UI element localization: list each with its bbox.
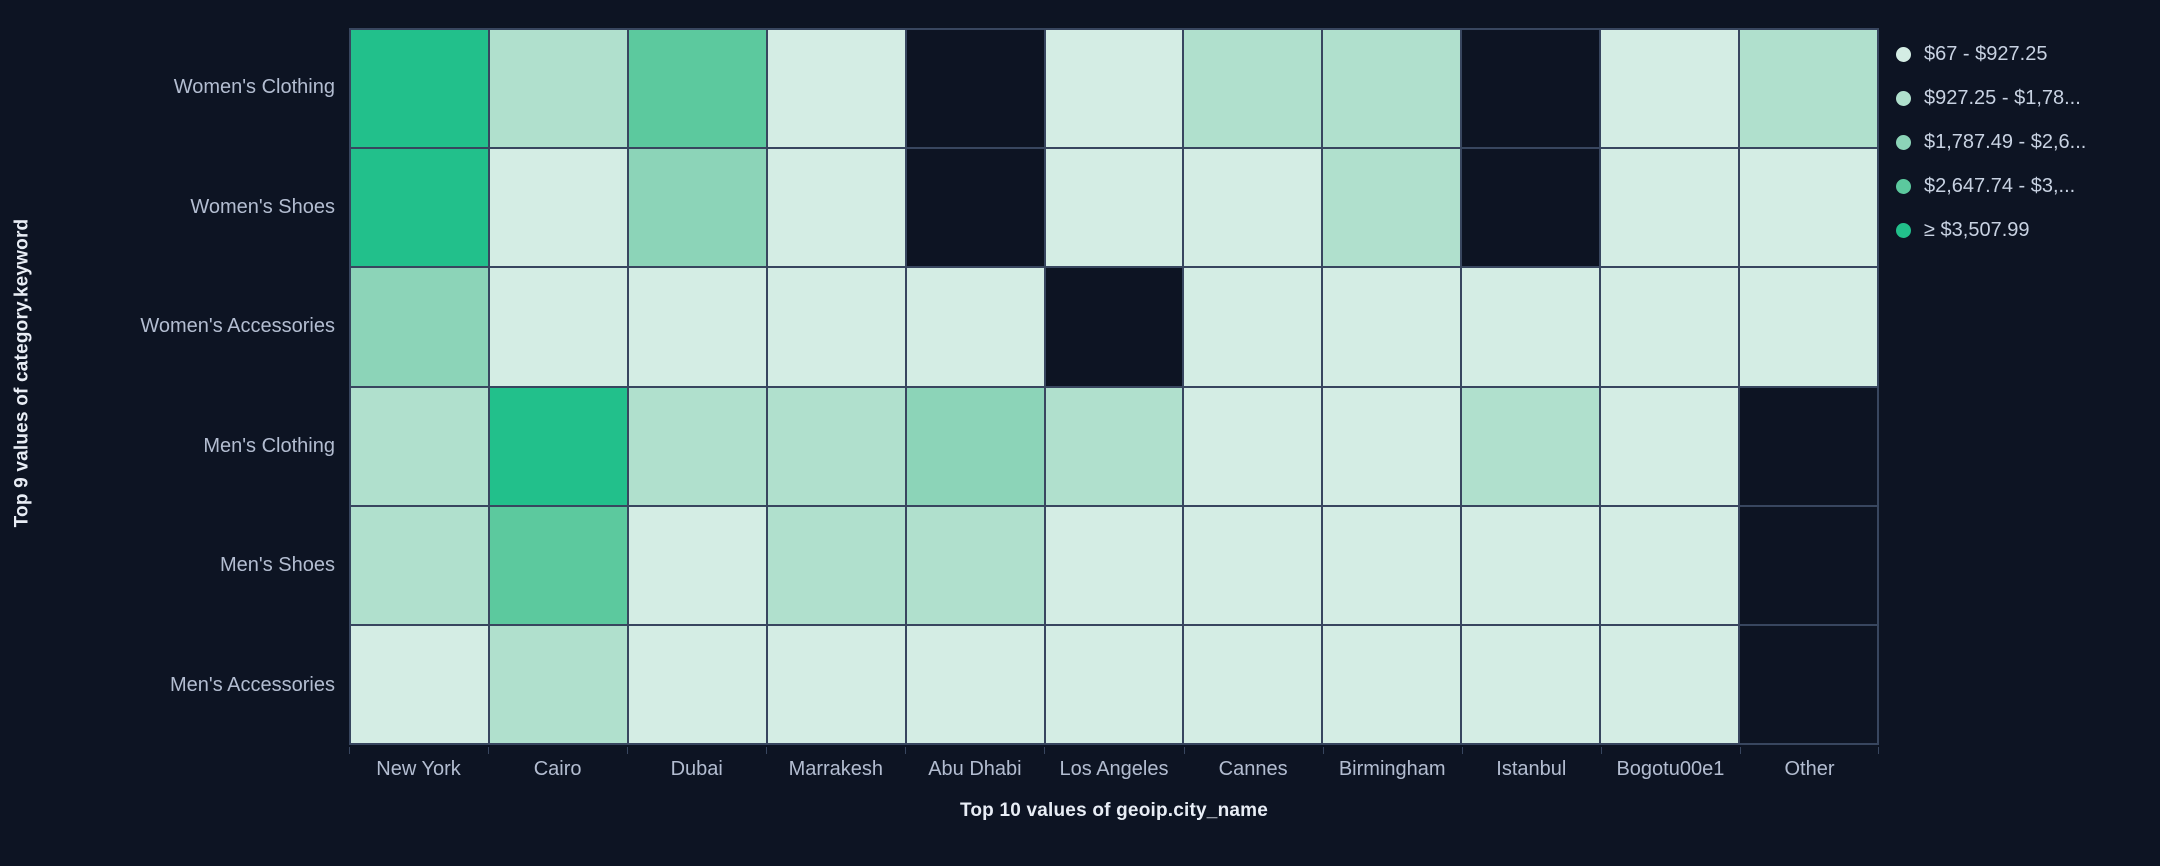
heatmap-cell[interactable]	[1740, 626, 1877, 743]
heatmap-cell[interactable]	[1601, 149, 1740, 266]
y-axis-tick: Women's Accessories	[44, 267, 349, 387]
legend-item[interactable]: ≥ $3,507.99	[1896, 208, 2156, 252]
x-axis-tick: Istanbul	[1462, 747, 1601, 791]
heatmap-cell[interactable]	[907, 626, 1046, 743]
heatmap-cell[interactable]	[1046, 626, 1185, 743]
heatmap-cell[interactable]	[1184, 388, 1323, 505]
heatmap-cell[interactable]	[1462, 388, 1601, 505]
x-axis-tick: Cairo	[488, 747, 627, 791]
heatmap-cell[interactable]	[1323, 30, 1462, 147]
x-axis-tick: New York	[349, 747, 488, 791]
heatmap-cell[interactable]	[1323, 388, 1462, 505]
heatmap-cell[interactable]	[1323, 268, 1462, 385]
x-axis-tick: Cannes	[1184, 747, 1323, 791]
heatmap-cell[interactable]	[629, 268, 768, 385]
heatmap-row	[351, 507, 1877, 626]
heatmap-visualization: Top 9 values of category.keyword Women's…	[0, 0, 2160, 866]
heatmap-cell[interactable]	[1046, 388, 1185, 505]
heatmap-cell[interactable]	[1601, 507, 1740, 624]
y-axis-tick: Women's Clothing	[44, 28, 349, 148]
legend-item[interactable]: $67 - $927.25	[1896, 32, 2156, 76]
heatmap-cell[interactable]	[490, 268, 629, 385]
heatmap-cell[interactable]	[907, 268, 1046, 385]
heatmap-cell[interactable]	[1601, 268, 1740, 385]
legend-swatch-icon	[1896, 47, 1911, 62]
heatmap-cell[interactable]	[351, 149, 490, 266]
heatmap-cell[interactable]	[768, 507, 907, 624]
heatmap-row	[351, 149, 1877, 268]
heatmap-cell[interactable]	[768, 626, 907, 743]
x-axis-tick: Birmingham	[1323, 747, 1462, 791]
heatmap-cell[interactable]	[351, 388, 490, 505]
heatmap-cell[interactable]	[768, 268, 907, 385]
legend-swatch-icon	[1896, 179, 1911, 194]
heatmap-cell[interactable]	[490, 388, 629, 505]
heatmap-row	[351, 268, 1877, 387]
heatmap-cell[interactable]	[1046, 268, 1185, 385]
legend-swatch-icon	[1896, 91, 1911, 106]
heatmap-cell[interactable]	[629, 507, 768, 624]
heatmap-cell[interactable]	[768, 388, 907, 505]
heatmap-cell[interactable]	[629, 149, 768, 266]
heatmap-cell[interactable]	[351, 626, 490, 743]
heatmap-cell[interactable]	[1046, 149, 1185, 266]
heatmap-cell[interactable]	[1740, 268, 1877, 385]
heatmap-cell[interactable]	[490, 149, 629, 266]
x-axis-tick: Dubai	[627, 747, 766, 791]
heatmap-cell[interactable]	[351, 268, 490, 385]
heatmap-cell[interactable]	[1601, 626, 1740, 743]
heatmap-cell[interactable]	[1462, 626, 1601, 743]
heatmap-cell[interactable]	[907, 388, 1046, 505]
heatmap-cell[interactable]	[1740, 149, 1877, 266]
heatmap-cell[interactable]	[1184, 507, 1323, 624]
x-axis-tick: Los Angeles	[1044, 747, 1183, 791]
heatmap-cell[interactable]	[629, 30, 768, 147]
legend-item[interactable]: $2,647.74 - $3,...	[1896, 164, 2156, 208]
heatmap-cell[interactable]	[1462, 149, 1601, 266]
heatmap-cell[interactable]	[907, 30, 1046, 147]
heatmap-cell[interactable]	[1601, 388, 1740, 505]
heatmap-cell[interactable]	[1184, 149, 1323, 266]
heatmap-cell[interactable]	[1184, 268, 1323, 385]
heatmap-cell[interactable]	[1184, 626, 1323, 743]
legend-item-label: ≥ $3,507.99	[1924, 219, 2030, 242]
legend-item-label: $67 - $927.25	[1924, 43, 2047, 66]
heatmap-cell[interactable]	[490, 30, 629, 147]
x-axis-title: Top 10 values of geoip.city_name	[349, 800, 1879, 822]
x-axis-tick: Marrakesh	[766, 747, 905, 791]
heatmap-cell[interactable]	[1601, 30, 1740, 147]
heatmap-cell[interactable]	[768, 30, 907, 147]
y-axis-title: Top 9 values of category.keyword	[0, 0, 44, 745]
y-axis-tick: Men's Shoes	[44, 506, 349, 626]
heatmap-cell[interactable]	[907, 507, 1046, 624]
heatmap-cell[interactable]	[1323, 149, 1462, 266]
legend-item-label: $1,787.49 - $2,6...	[1924, 131, 2086, 154]
heatmap-row	[351, 626, 1877, 743]
y-axis-tick: Women's Shoes	[44, 148, 349, 268]
heatmap-cell[interactable]	[1740, 388, 1877, 505]
legend[interactable]: $67 - $927.25$927.25 - $1,78...$1,787.49…	[1896, 32, 2156, 252]
heatmap-cell[interactable]	[1323, 507, 1462, 624]
heatmap-cell[interactable]	[490, 626, 629, 743]
x-axis-tick: Other	[1740, 747, 1879, 791]
heatmap-cell[interactable]	[1740, 507, 1877, 624]
heatmap-cell[interactable]	[907, 149, 1046, 266]
heatmap-row	[351, 30, 1877, 149]
legend-item[interactable]: $927.25 - $1,78...	[1896, 76, 2156, 120]
heatmap-cell[interactable]	[768, 149, 907, 266]
legend-swatch-icon	[1896, 135, 1911, 150]
heatmap-cell[interactable]	[1740, 30, 1877, 147]
y-axis-tick-labels: Women's ClothingWomen's ShoesWomen's Acc…	[44, 28, 349, 745]
heatmap-cell[interactable]	[1462, 507, 1601, 624]
heatmap-cell[interactable]	[629, 388, 768, 505]
heatmap-cell[interactable]	[1046, 30, 1185, 147]
heatmap-cell[interactable]	[629, 626, 768, 743]
heatmap-cell[interactable]	[1462, 268, 1601, 385]
legend-swatch-icon	[1896, 223, 1911, 238]
legend-item-label: $927.25 - $1,78...	[1924, 87, 2081, 110]
heatmap-cell[interactable]	[1462, 30, 1601, 147]
heatmap-cell[interactable]	[1184, 30, 1323, 147]
heatmap-cell[interactable]	[1323, 626, 1462, 743]
x-axis-tick: Bogotu00e1	[1601, 747, 1740, 791]
heatmap-cell[interactable]	[490, 507, 629, 624]
y-axis-tick: Men's Accessories	[44, 626, 349, 746]
heatmap-cell[interactable]	[1046, 507, 1185, 624]
y-axis-title-label: Top 9 values of category.keyword	[11, 218, 33, 527]
heatmap-cell[interactable]	[351, 30, 490, 147]
legend-item-label: $2,647.74 - $3,...	[1924, 175, 2075, 198]
y-axis-tick: Men's Clothing	[44, 387, 349, 507]
legend-item[interactable]: $1,787.49 - $2,6...	[1896, 120, 2156, 164]
heatmap-cell[interactable]	[351, 507, 490, 624]
x-axis-tick: Abu Dhabi	[905, 747, 1044, 791]
heatmap-row	[351, 388, 1877, 507]
heatmap-grid[interactable]	[349, 28, 1879, 745]
x-axis-tick-labels: New YorkCairoDubaiMarrakeshAbu DhabiLos …	[349, 747, 1879, 791]
